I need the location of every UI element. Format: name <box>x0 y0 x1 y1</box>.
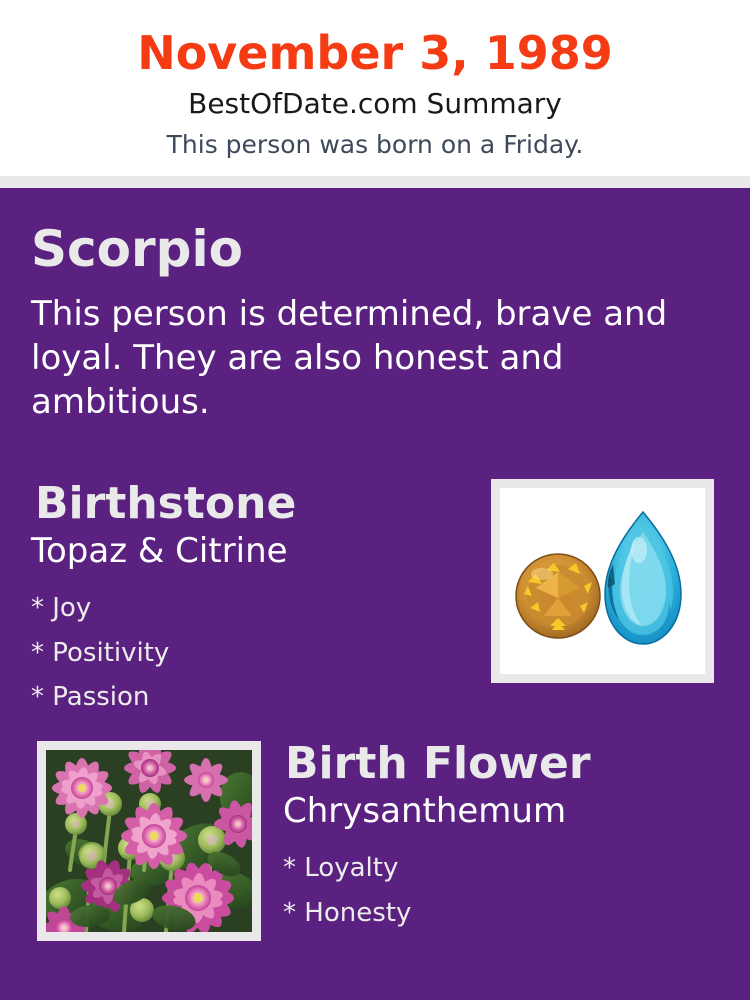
birth-flower-image <box>46 750 252 932</box>
birth-flower-trait-list: * Loyalty * Honesty <box>283 846 703 936</box>
site-summary-label: BestOfDate.com Summary <box>0 87 750 121</box>
header-divider <box>0 176 750 188</box>
birthstone-trait-list: * Joy * Positivity * Passion <box>31 586 451 720</box>
born-day-text: This person was born on a Friday. <box>0 129 750 161</box>
birthstone-title: Birthstone <box>35 478 296 530</box>
birthstone-name: Topaz & Citrine <box>31 530 288 572</box>
header: November 3, 1989 BestOfDate.com Summary … <box>0 0 750 176</box>
list-item: * Passion <box>31 675 451 720</box>
chrysanthemum-illustration <box>46 750 252 932</box>
summary-panel: Scorpio This person is determined, brave… <box>0 188 750 1000</box>
birth-flower-name: Chrysanthemum <box>283 790 566 832</box>
birthday-summary-card: November 3, 1989 BestOfDate.com Summary … <box>0 0 750 1000</box>
list-item: * Loyalty <box>283 846 703 891</box>
list-item: * Honesty <box>283 891 703 936</box>
list-item: * Joy <box>31 586 451 631</box>
zodiac-description: This person is determined, brave and loy… <box>31 292 701 424</box>
birthstone-image <box>500 488 705 674</box>
birthstone-image-frame <box>491 479 714 683</box>
list-item: * Positivity <box>31 631 451 676</box>
birth-flower-image-frame <box>37 741 261 941</box>
gemstones-illustration <box>500 488 705 674</box>
page-title: November 3, 1989 <box>0 24 750 82</box>
zodiac-sign-title: Scorpio <box>31 220 243 278</box>
birth-flower-title: Birth Flower <box>285 738 591 790</box>
